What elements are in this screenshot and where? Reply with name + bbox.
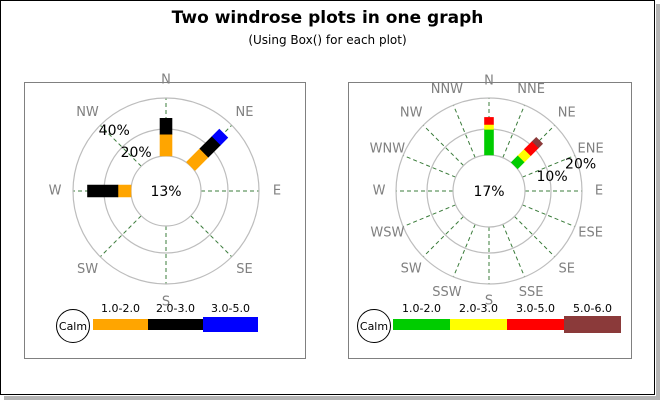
- petal-segment-n-1.0-2.0: [485, 129, 494, 155]
- legend-label-3.0-5.0: 3.0-5.0: [195, 302, 266, 315]
- direction-label-se: SE: [236, 262, 252, 277]
- legend-bar-2.0-3.0: [450, 319, 507, 330]
- direction-label-ne: NE: [236, 105, 254, 120]
- direction-label-n: N: [161, 73, 171, 88]
- ring-label-10: 10%: [537, 169, 568, 185]
- plot-box-right: NNNENEENEEESESESSESSSWSWWSWWWNWNWNNW17%1…: [348, 82, 632, 359]
- direction-label-wnw: WNW: [370, 141, 406, 156]
- petal-segment-n-3.0-5.0: [485, 117, 494, 124]
- page-title: Two windrose plots in one graph: [0, 8, 655, 28]
- ring-label-40: 40%: [99, 123, 130, 139]
- direction-label-e: E: [273, 184, 281, 199]
- legend-bar-1.0-2.0: [393, 319, 450, 330]
- direction-label-ne: NE: [558, 106, 576, 121]
- direction-label-n: N: [484, 74, 494, 89]
- direction-label-sse: SSE: [519, 285, 544, 300]
- petal-segment-n-2.0-3.0: [485, 125, 494, 130]
- legend-bar-3.0-5.0: [203, 317, 258, 332]
- grid-spoke: [191, 216, 232, 257]
- legend-bar-5.0-6.0: [564, 316, 621, 333]
- screenshot-root: Two windrose plots in one graph (Using B…: [0, 0, 660, 400]
- direction-label-w: W: [49, 184, 62, 199]
- direction-label-nnw: NNW: [431, 82, 463, 97]
- petal-segment-n-2.0-3.0: [160, 118, 172, 134]
- legend-label-5.0-6.0: 5.0-6.0: [556, 302, 629, 315]
- grid-spoke: [423, 125, 463, 165]
- grid-spoke: [514, 216, 554, 256]
- direction-label-nw: NW: [76, 105, 99, 120]
- window-shadow-bottom: [4, 396, 660, 400]
- direction-label-ene: ENE: [578, 141, 604, 156]
- direction-label-se: SE: [559, 261, 575, 276]
- legend-bar-2.0-3.0: [148, 319, 203, 330]
- direction-label-nne: NNE: [517, 82, 545, 97]
- direction-label-ese: ESE: [578, 226, 603, 241]
- grid-spoke: [100, 216, 141, 257]
- direction-label-e: E: [595, 184, 603, 199]
- plot-box-left: NNEESESSWWNW13%20%40% Calm1.0-2.02.0-3.0…: [24, 82, 306, 359]
- direction-label-wsw: WSW: [370, 226, 404, 241]
- direction-label-nw: NW: [400, 106, 423, 121]
- ring-label-20: 20%: [121, 145, 152, 161]
- legend-bar-1.0-2.0: [93, 319, 148, 330]
- direction-label-sw: SW: [401, 261, 422, 276]
- petal-segment-w-1.0-2.0: [118, 185, 131, 197]
- page-subtitle: (Using Box() for each plot): [0, 33, 655, 47]
- calm-center-label: 17%: [473, 184, 504, 200]
- legend-bar-3.0-5.0: [507, 319, 564, 330]
- petal-segment-n-1.0-2.0: [160, 134, 172, 156]
- direction-label-w: W: [373, 184, 386, 199]
- window-shadow-right: [656, 4, 660, 400]
- petal-segment-w-2.0-3.0: [88, 185, 118, 197]
- calm-center-label: 13%: [150, 184, 181, 200]
- direction-label-sw: SW: [77, 262, 98, 277]
- grid-spoke: [423, 216, 463, 256]
- direction-label-ssw: SSW: [432, 285, 462, 300]
- ring-label-20: 20%: [565, 157, 596, 173]
